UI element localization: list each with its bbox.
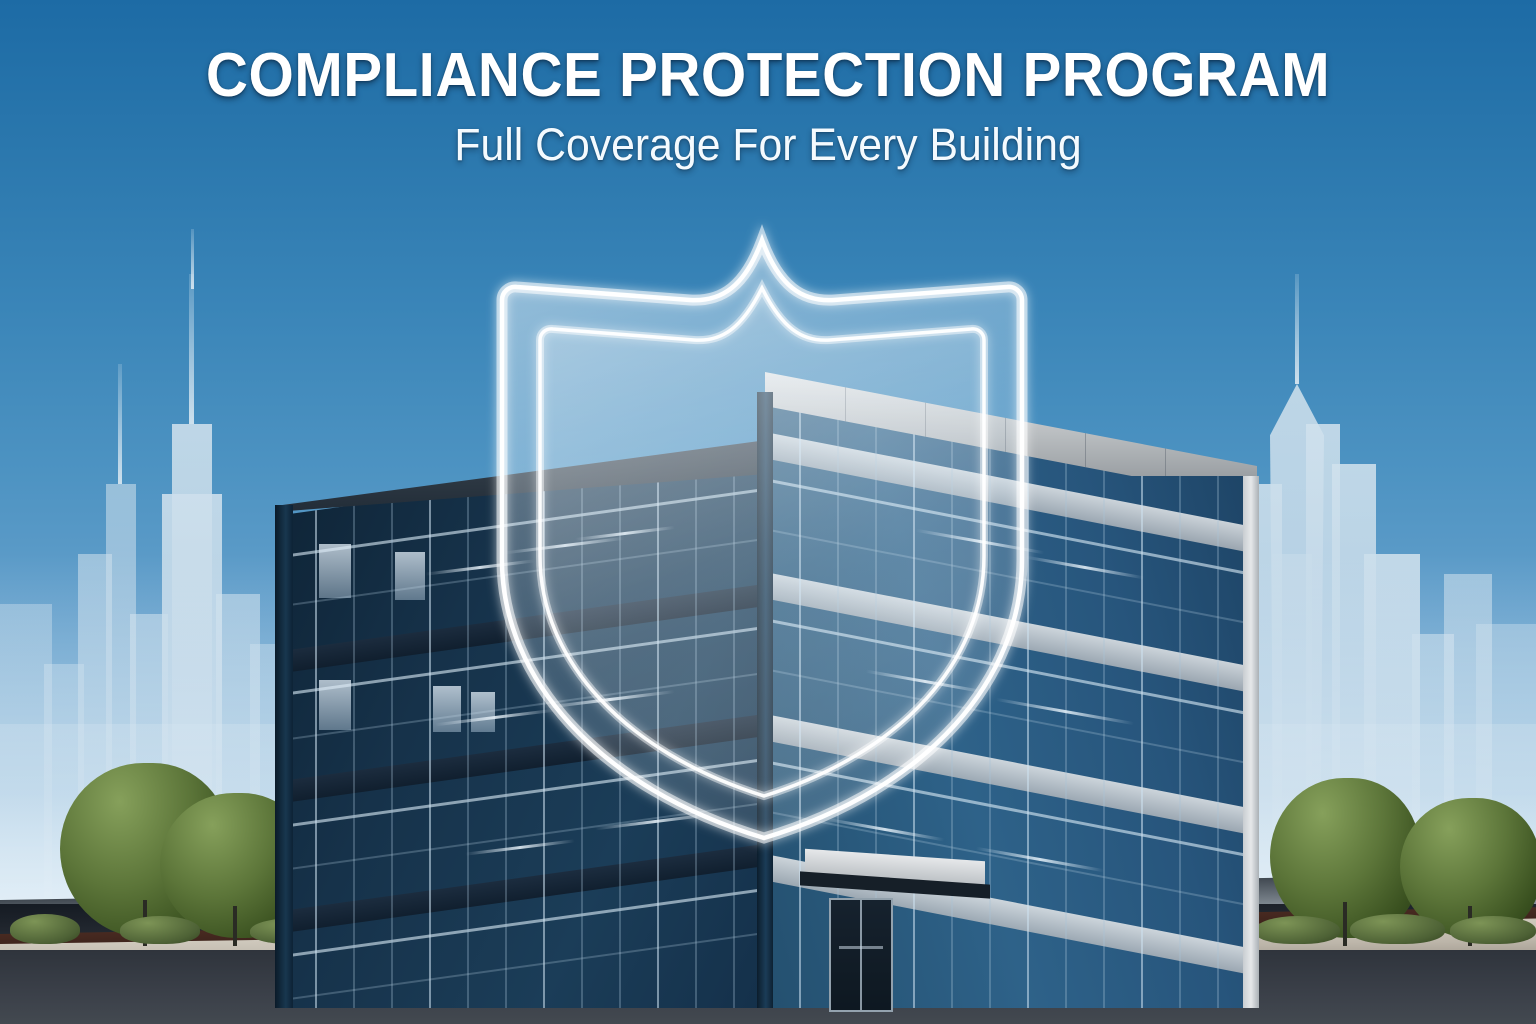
promotional-banner: COMPLIANCE PROTECTION PROGRAM Full Cover… — [0, 0, 1536, 1024]
page-subtitle: Full Coverage For Every Building — [38, 119, 1497, 171]
corner-pier-center — [757, 392, 773, 1008]
headline-block: COMPLIANCE PROTECTION PROGRAM Full Cover… — [0, 44, 1536, 171]
corner-pier-right — [1243, 476, 1259, 1008]
corner-pier-left — [275, 505, 293, 1008]
building-facade-left — [275, 448, 765, 1008]
page-title: COMPLIANCE PROTECTION PROGRAM — [46, 44, 1490, 107]
